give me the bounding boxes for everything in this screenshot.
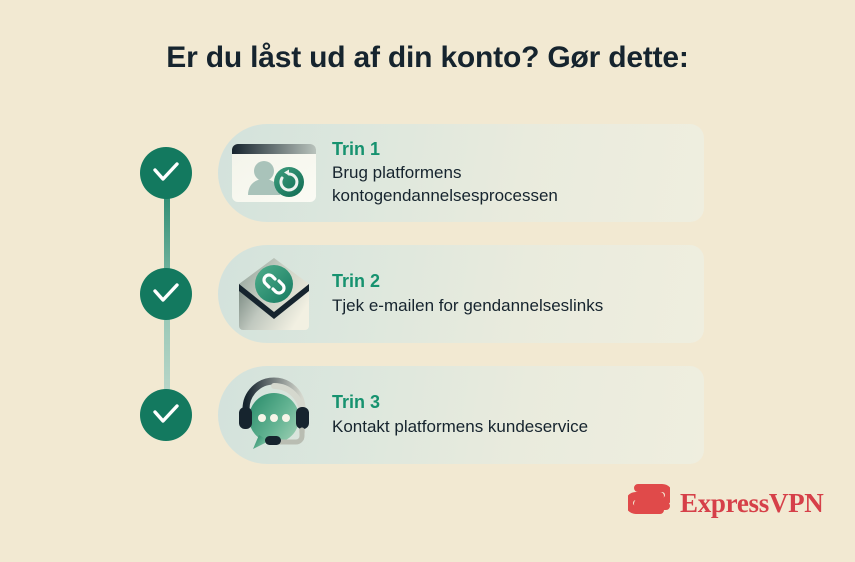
page-title: Er du låst ud af din konto? Gør dette: (0, 41, 855, 75)
step-2-description: Tjek e-mailen for gendannelseslinks (332, 295, 603, 318)
expressvpn-logo: ExpressVPN (628, 484, 824, 523)
step-3-description: Kontakt platformens kundeservice (332, 416, 588, 439)
step-2-text: Trin 2 Tjek e-mailen for gendannelseslin… (330, 270, 603, 317)
step-2-label: Trin 2 (332, 270, 603, 293)
expressvpn-wordmark: ExpressVPN (680, 488, 824, 519)
step-1-check-node (140, 147, 192, 199)
expressvpn-e-mark-icon (628, 484, 670, 523)
step-1-text: Trin 1 Brug platformens kontogendannelse… (330, 138, 558, 208)
step-3-text: Trin 3 Kontakt platformens kundeservice (330, 391, 588, 438)
timeline (140, 140, 194, 450)
step-1-label: Trin 1 (332, 138, 558, 161)
step-3-label: Trin 3 (332, 391, 588, 414)
step-3-check-node (140, 389, 192, 441)
step-card-1: Trin 1 Brug platformens kontogendannelse… (218, 124, 704, 222)
step-2-check-node (140, 268, 192, 320)
step-1-description: Brug platformens kontogendannelsesproces… (332, 162, 558, 208)
envelope-link-icon (218, 245, 330, 343)
headset-chat-icon (218, 366, 330, 464)
browser-account-recovery-icon (218, 124, 330, 222)
step-card-2: Trin 2 Tjek e-mailen for gendannelseslin… (218, 245, 704, 343)
step-card-3: Trin 3 Kontakt platformens kundeservice (218, 366, 704, 464)
